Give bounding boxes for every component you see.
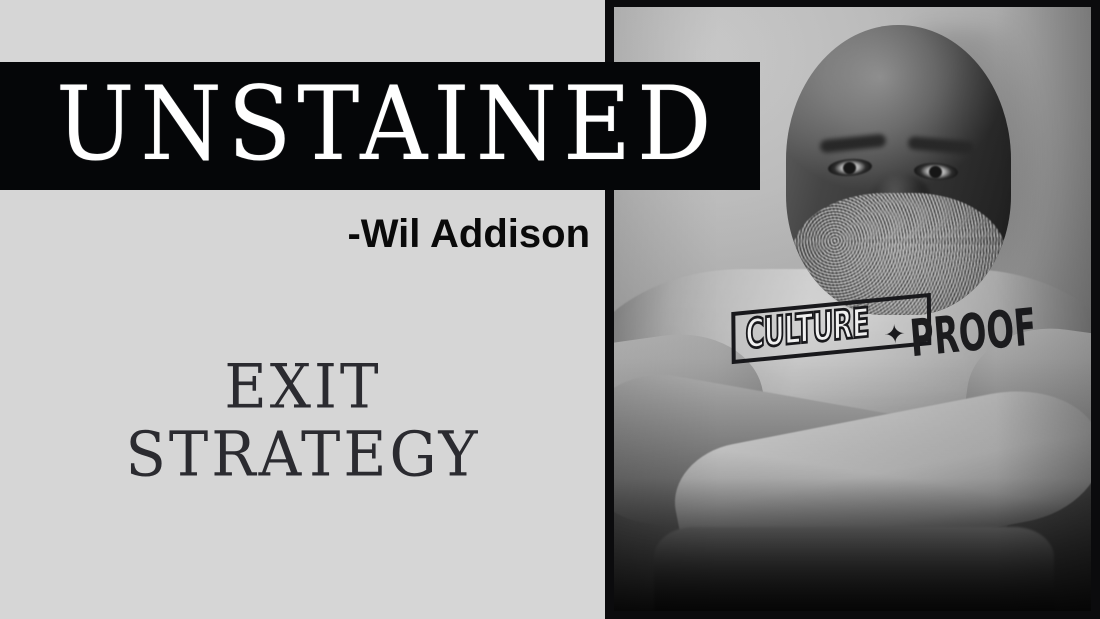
tshirt-word-proof: PROOF: [908, 303, 1038, 364]
title-banner: UNSTAINED: [0, 62, 760, 190]
episode-headline: EXIT STRATEGY: [0, 352, 606, 487]
tshirt-word-culture: CULTURE: [745, 305, 869, 355]
page-title: UNSTAINED: [43, 73, 718, 179]
photo-shirt-hem: [654, 527, 1054, 611]
slide-canvas: CULTURE PROOF UNSTAINED -Wil Addison EXI…: [0, 0, 1100, 619]
author-byline: -Wil Addison: [0, 214, 590, 254]
episode-headline-line-2: STRATEGY: [0, 419, 606, 490]
photo-head: [786, 25, 1011, 315]
episode-headline-line-1: EXIT: [0, 352, 606, 422]
